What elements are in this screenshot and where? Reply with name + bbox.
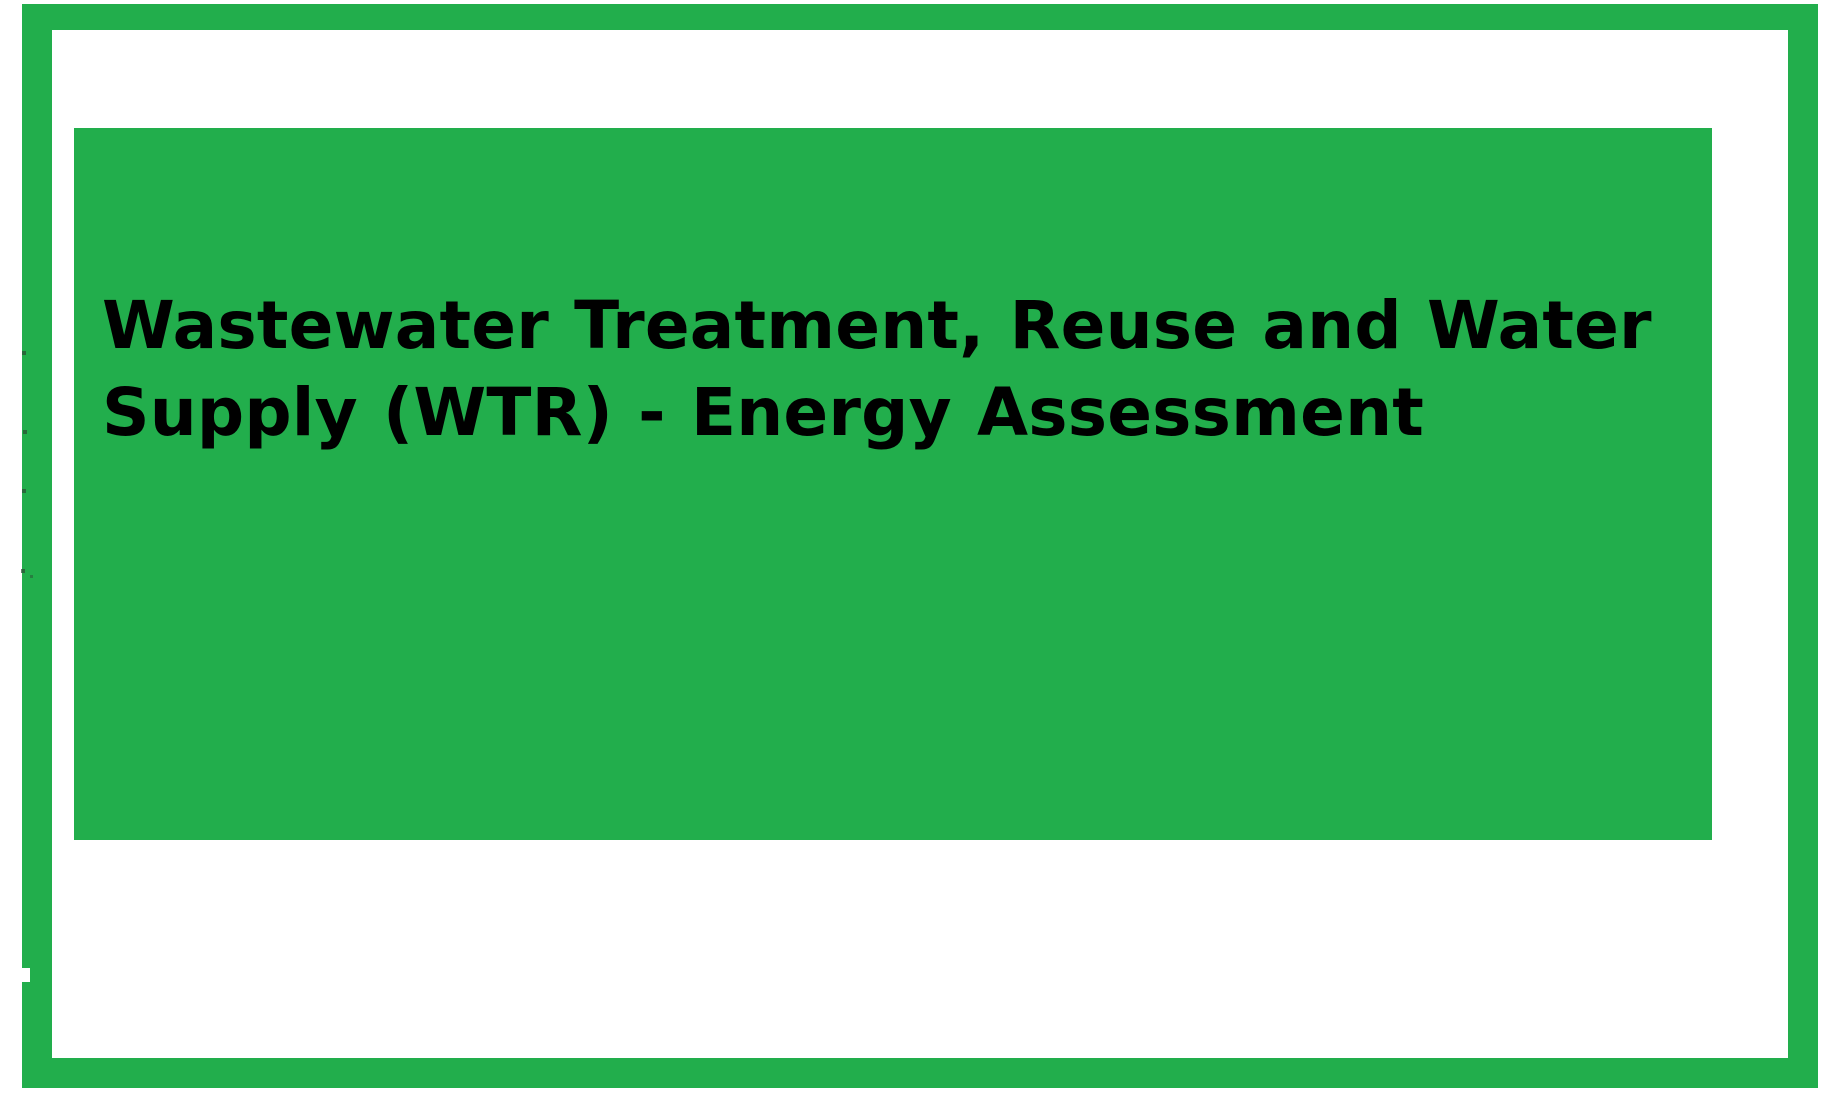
bullet-speck-icon	[30, 575, 33, 578]
bullet-speck-icon	[22, 351, 26, 355]
bullet-speck-icon	[22, 489, 26, 493]
page-title: Wastewater Treatment, Reuse and Water Su…	[102, 282, 1676, 456]
title-block: Wastewater Treatment, Reuse and Water Su…	[102, 282, 1676, 456]
slide-canvas: Wastewater Treatment, Reuse and Water Su…	[0, 0, 1826, 1094]
slide-content-box: Wastewater Treatment, Reuse and Water Su…	[74, 128, 1712, 840]
bullet-speck-icon	[21, 569, 25, 573]
frame-edge-notch	[22, 968, 30, 982]
bullet-speck-icon	[23, 430, 27, 434]
